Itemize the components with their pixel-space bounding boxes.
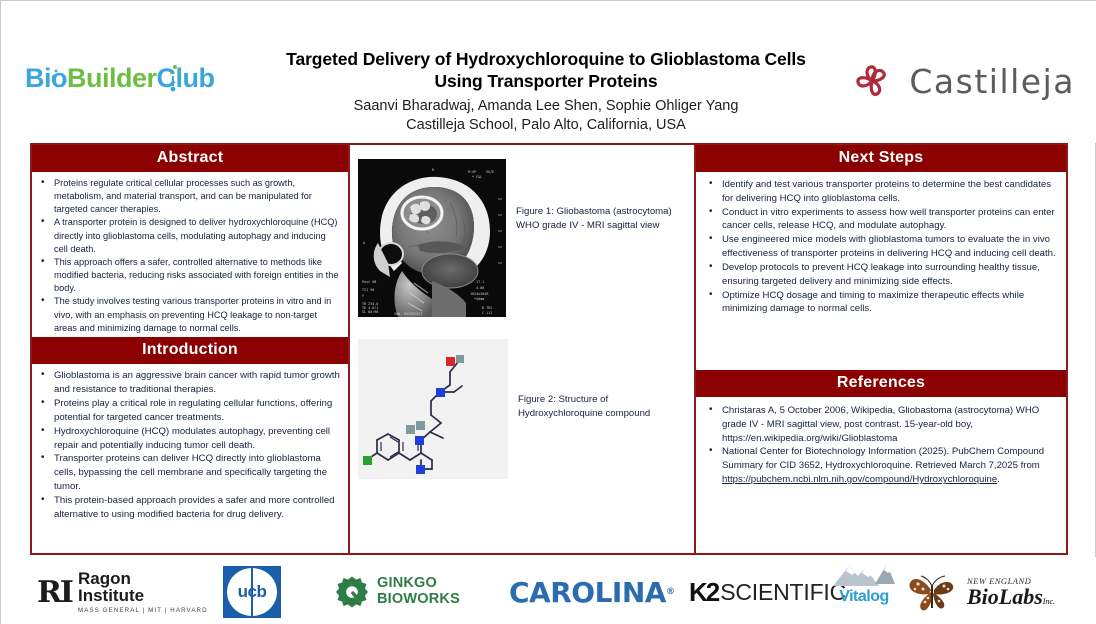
logo-builder-text: Builder <box>67 63 157 93</box>
carolina-registered-mark: ® <box>666 587 675 597</box>
svg-text:H:SP: H:SP <box>468 170 476 174</box>
list-item: Glioblastoma is an aggressive brain canc… <box>37 369 341 397</box>
list-item: This protein-based approach provides a s… <box>37 494 341 522</box>
castilleja-wordmark: Castilleja <box>909 62 1075 101</box>
title-line-1: Targeted Delivery of Hydroxychloroquine … <box>286 49 806 69</box>
hydrogen-atom-marker <box>456 355 464 363</box>
left-column: Abstract Proteins regulate critical cell… <box>32 145 350 553</box>
vitalog-wordmark: Vitalog <box>839 588 889 606</box>
hcq-structure-image <box>358 339 508 479</box>
figure-2-block: Figure 2: Structure of Hydroxychloroquin… <box>350 317 694 479</box>
list-item: The study involves testing various trans… <box>37 295 341 334</box>
abstract-header: Abstract <box>32 145 348 172</box>
abstract-bullet-list: Proteins regulate critical cellular proc… <box>37 177 341 335</box>
svg-text:*40mm: *40mm <box>474 297 484 301</box>
list-item: Optimize HCQ dosage and timing to maximi… <box>702 289 1056 317</box>
list-item: Conduct in vitro experiments to assess h… <box>702 206 1056 234</box>
reference-period: . <box>997 474 1000 485</box>
list-item: This approach offers a safer, controlled… <box>37 256 341 295</box>
sponsor-logo-k2-scientific: K2 SCIENTIFIC <box>689 558 846 624</box>
svg-text:A: A <box>363 241 365 245</box>
sponsor-footer: RI Ragon Institute MASS GENERAL | MIT | … <box>1 557 1096 624</box>
ginkgo-gear-icon <box>335 575 369 609</box>
figure-1-block: R H:SP SG/E * F&L A Post OB TI1 90 Y TR … <box>350 145 694 317</box>
figure-2-caption: Figure 2: Structure of Hydroxychloroquin… <box>518 393 678 422</box>
sponsor-logo-ragon-institute: RI Ragon Institute MASS GENERAL | MIT | … <box>37 558 208 624</box>
svg-text:1024x2048: 1024x2048 <box>470 292 488 296</box>
references-list: Christaras A, 5 October 2006, Wikipedia,… <box>702 404 1056 487</box>
sponsor-logo-vitalog: Vitalog <box>831 558 897 624</box>
author-list: Saanvi Bharadwaj, Amanda Lee Shen, Sophi… <box>229 97 863 117</box>
list-item: A transporter protein is designed to del… <box>37 216 341 255</box>
list-item: Identify and test various transporter pr… <box>702 178 1056 206</box>
hydrogen-atom-marker <box>406 425 415 434</box>
list-item: Proteins play a critical role in regulat… <box>37 397 341 425</box>
references-body: Christaras A, 5 October 2006, Wikipedia,… <box>696 397 1066 493</box>
svg-text:SL 60:90: SL 60:90 <box>362 310 378 314</box>
mountain-icon <box>831 558 897 588</box>
next-steps-header: Next Steps <box>696 145 1066 172</box>
conference-poster: BioBuilderClub Targeted Delivery of Hydr… <box>0 0 1096 624</box>
sponsor-logo-ucb: ucb <box>223 558 281 624</box>
svg-text:B TR2: B TR2 <box>482 306 492 310</box>
sponsor-logo-ginkgo-bioworks: GINKGO BIOWORKS <box>335 558 460 624</box>
nitrogen-atom-marker <box>415 436 424 445</box>
next-steps-bullet-list: Identify and test various transporter pr… <box>702 178 1056 316</box>
list-item: Use engineered mice models with glioblas… <box>702 233 1056 261</box>
ragon-monogram: RI <box>37 575 72 610</box>
castilleja-pinwheel-icon <box>849 59 895 103</box>
list-item: Christaras A, 5 October 2006, Wikipedia,… <box>702 404 1056 445</box>
svg-text:20N, BACKEVEST: 20N, BACKEVEST <box>394 312 423 316</box>
k2-monogram: K2 <box>689 577 718 608</box>
section-abstract: Abstract Proteins regulate critical cell… <box>32 145 348 337</box>
nitrogen-atom-marker <box>436 388 445 397</box>
sponsor-logo-new-england-biolabs: NEW ENGLAND BioLabsInc. <box>907 558 1055 624</box>
biobuilderclub-logo: BioBuilderClub <box>25 63 215 94</box>
figure-1-caption: Figure 1: Gliobastoma (astrocytoma) WHO … <box>516 205 676 234</box>
neb-line-2: BioLabs <box>967 584 1043 609</box>
svg-text:Post OB: Post OB <box>362 280 376 284</box>
poster-body: Abstract Proteins regulate critical cell… <box>30 143 1068 555</box>
list-item: Transporter proteins can deliver HCQ dir… <box>37 452 341 494</box>
ragon-line-2: Institute <box>78 587 208 604</box>
list-item: Proteins regulate critical cellular proc… <box>37 177 341 216</box>
introduction-bullet-list: Glioblastoma is an aggressive brain canc… <box>37 369 341 522</box>
svg-text:4.00: 4.00 <box>476 286 484 290</box>
ucb-wordmark: ucb <box>238 582 267 602</box>
svg-text:TI1 90: TI1 90 <box>362 288 374 292</box>
svg-text:* F&L: * F&L <box>472 175 482 179</box>
castilleja-logo: Castilleja <box>849 59 1075 103</box>
section-references: References Christaras A, 5 October 2006,… <box>696 370 1066 493</box>
next-steps-body: Identify and test various transporter pr… <box>696 172 1066 370</box>
logo-club-text: Club <box>157 63 215 93</box>
chlorine-atom-marker <box>363 456 372 465</box>
affiliation: Castilleja School, Palo Alto, California… <box>229 116 863 136</box>
svg-text:C 111: C 111 <box>482 311 492 315</box>
ginkgo-line-1: GINKGO <box>377 576 460 592</box>
k2-wordmark: SCIENTIFIC <box>720 579 846 606</box>
references-header: References <box>696 370 1066 397</box>
svg-text:-17.1: -17.1 <box>474 280 484 284</box>
middle-column: R H:SP SG/E * F&L A Post OB TI1 90 Y TR … <box>350 145 696 553</box>
ring-nitrogen-atom-marker <box>416 465 425 474</box>
hydroxychloroquine-structure-graphic <box>358 339 508 479</box>
sponsor-logo-carolina: CAROLINA® <box>509 558 674 624</box>
title-block: Targeted Delivery of Hydroxychloroquine … <box>229 49 863 136</box>
abstract-body: Proteins regulate critical cellular proc… <box>32 172 348 337</box>
title-line-2: Using Transporter Proteins <box>434 71 657 91</box>
poster-header: BioBuilderClub Targeted Delivery of Hydr… <box>1 1 1096 143</box>
reference-text: National Center for Biotechnology Inform… <box>722 446 1044 471</box>
carolina-wordmark: CAROLINA <box>509 576 666 609</box>
mri-scan-graphic: R H:SP SG/E * F&L A Post OB TI1 90 Y TR … <box>358 159 506 317</box>
neb-suffix: Inc. <box>1043 597 1055 606</box>
hydrogen-atom-marker <box>416 421 425 430</box>
logo-bio-text: Bio <box>25 63 67 93</box>
list-item: Hydroxychloroquine (HCQ) modulates autop… <box>37 425 341 453</box>
ragon-subtitle: MASS GENERAL | MIT | HARVARD <box>78 607 208 614</box>
section-introduction: Introduction Glioblastoma is an aggressi… <box>32 337 348 526</box>
section-next-steps: Next Steps Identify and test various tra… <box>696 145 1066 370</box>
right-column: Next Steps Identify and test various tra… <box>696 145 1066 553</box>
ginkgo-line-2: BIOWORKS <box>377 592 460 608</box>
list-item: National Center for Biotechnology Inform… <box>702 445 1056 486</box>
introduction-body: Glioblastoma is an aggressive brain canc… <box>32 364 348 526</box>
introduction-header: Introduction <box>32 337 348 364</box>
oxygen-atom-marker <box>446 357 455 366</box>
mri-sagittal-image: R H:SP SG/E * F&L A Post OB TI1 90 Y TR … <box>358 159 506 317</box>
svg-text:SG/E: SG/E <box>486 170 494 174</box>
ragon-line-1: Ragon <box>78 570 208 587</box>
list-item: Develop protocols to prevent HCQ leakage… <box>702 261 1056 289</box>
pubchem-link[interactable]: https://pubchem.ncbi.nlm.nih.gov/compoun… <box>722 474 997 485</box>
svg-text:Y: Y <box>362 294 364 298</box>
page-title: Targeted Delivery of Hydroxychloroquine … <box>229 49 863 93</box>
butterfly-icon <box>907 572 963 612</box>
